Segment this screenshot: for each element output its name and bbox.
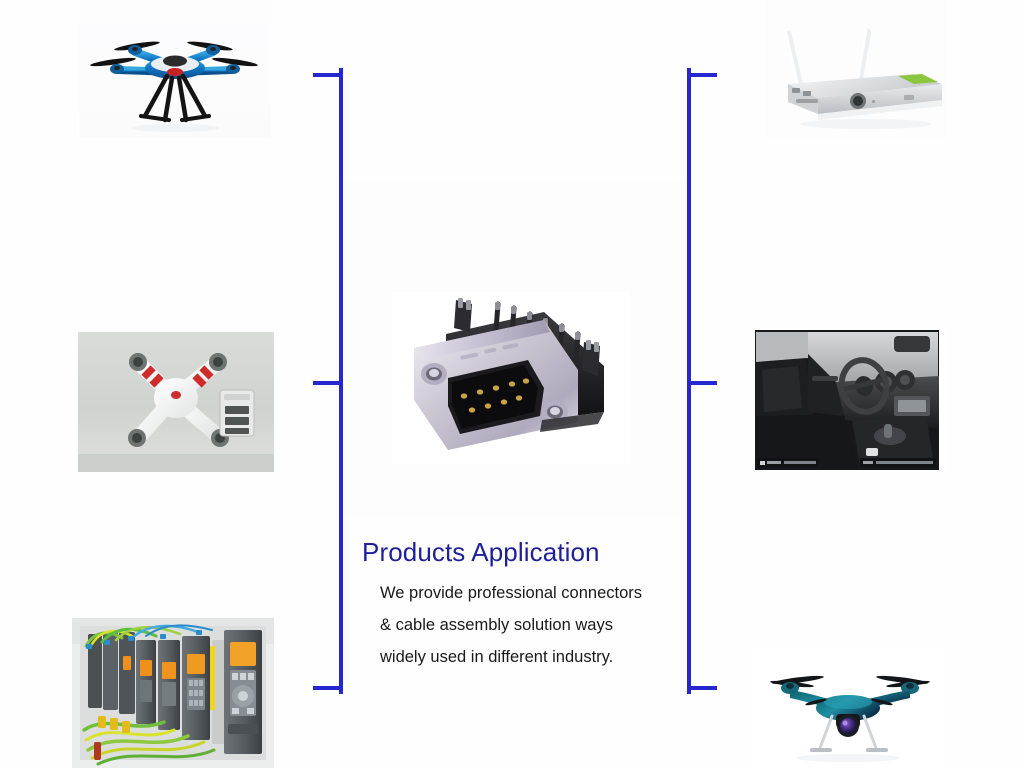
slide-canvas: Products Application We provide professi…: [0, 0, 1024, 768]
image-teal-camera-drone: [752, 646, 948, 768]
page-title: Products Application: [362, 538, 662, 567]
image-car-interior: [748, 324, 946, 476]
image-blue-hexacopter-drone: [79, 0, 271, 138]
image-white-quadcopter-drone: [78, 332, 274, 472]
bracket-left: [305, 66, 349, 696]
image-industrial-vfd-drives: [72, 618, 274, 768]
description-text: We provide professional connectors & cab…: [380, 577, 648, 674]
image-db9-dsub-connector: [392, 292, 630, 464]
bracket-right: [681, 66, 725, 696]
image-wireless-router-set-top-box: [766, 0, 946, 138]
text-block: Products Application We provide professi…: [362, 538, 662, 673]
